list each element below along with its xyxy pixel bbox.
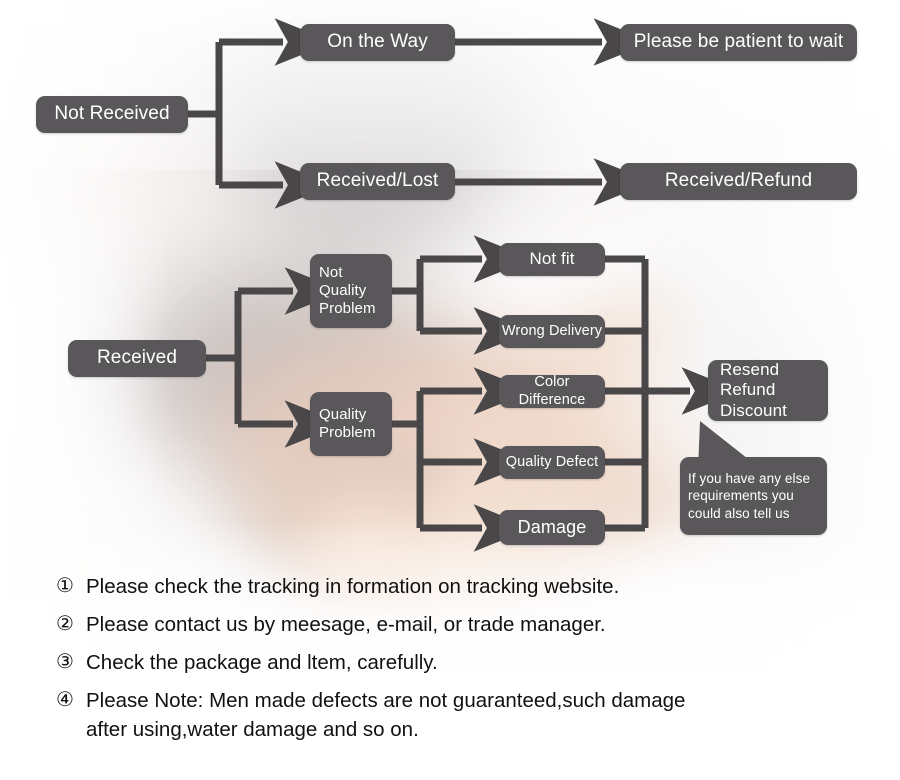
node-wrong-delivery[interactable]: Wrong Delivery [499, 315, 605, 348]
node-received-refund[interactable]: Received/Refund [620, 163, 857, 200]
note-text: Please contact us by meesage, e-mail, or… [86, 610, 606, 639]
list-item: ③ Check the package and ltem, carefully. [56, 648, 876, 677]
note-text: Please check the tracking in formation o… [86, 572, 619, 601]
node-not-quality-problem[interactable]: Not Quality Problem [310, 254, 392, 328]
note-number: ② [56, 610, 86, 639]
node-received-lost[interactable]: Received/Lost [300, 163, 455, 200]
flowchart-page: Not Received On the Way Please be patien… [0, 0, 900, 780]
node-please-be-patient-to-wait[interactable]: Please be patient to wait [620, 24, 857, 61]
node-callout-extra-requirements[interactable]: If you have any else requirements you co… [680, 457, 827, 535]
node-quality-defect[interactable]: Quality Defect [499, 446, 605, 479]
note-text: Please Note: Men made defects are not gu… [86, 686, 685, 744]
node-not-received[interactable]: Not Received [36, 96, 188, 133]
list-item: ④ Please Note: Men made defects are not … [56, 686, 876, 744]
note-number: ① [56, 572, 86, 601]
note-number: ③ [56, 648, 86, 677]
list-item: ① Please check the tracking in formation… [56, 572, 876, 601]
node-resend-refund-discount[interactable]: Resend Refund Discount [708, 360, 828, 421]
node-on-the-way[interactable]: On the Way [300, 24, 455, 61]
node-received[interactable]: Received [68, 340, 206, 377]
node-not-fit[interactable]: Not fit [499, 243, 605, 276]
node-color-difference[interactable]: Color Difference [499, 375, 605, 408]
node-quality-problem[interactable]: Quality Problem [310, 392, 392, 456]
note-number: ④ [56, 686, 86, 715]
node-damage[interactable]: Damage [499, 510, 605, 545]
list-item: ② Please contact us by meesage, e-mail, … [56, 610, 876, 639]
note-text: Check the package and ltem, carefully. [86, 648, 438, 677]
notes-list: ① Please check the tracking in formation… [56, 572, 876, 753]
